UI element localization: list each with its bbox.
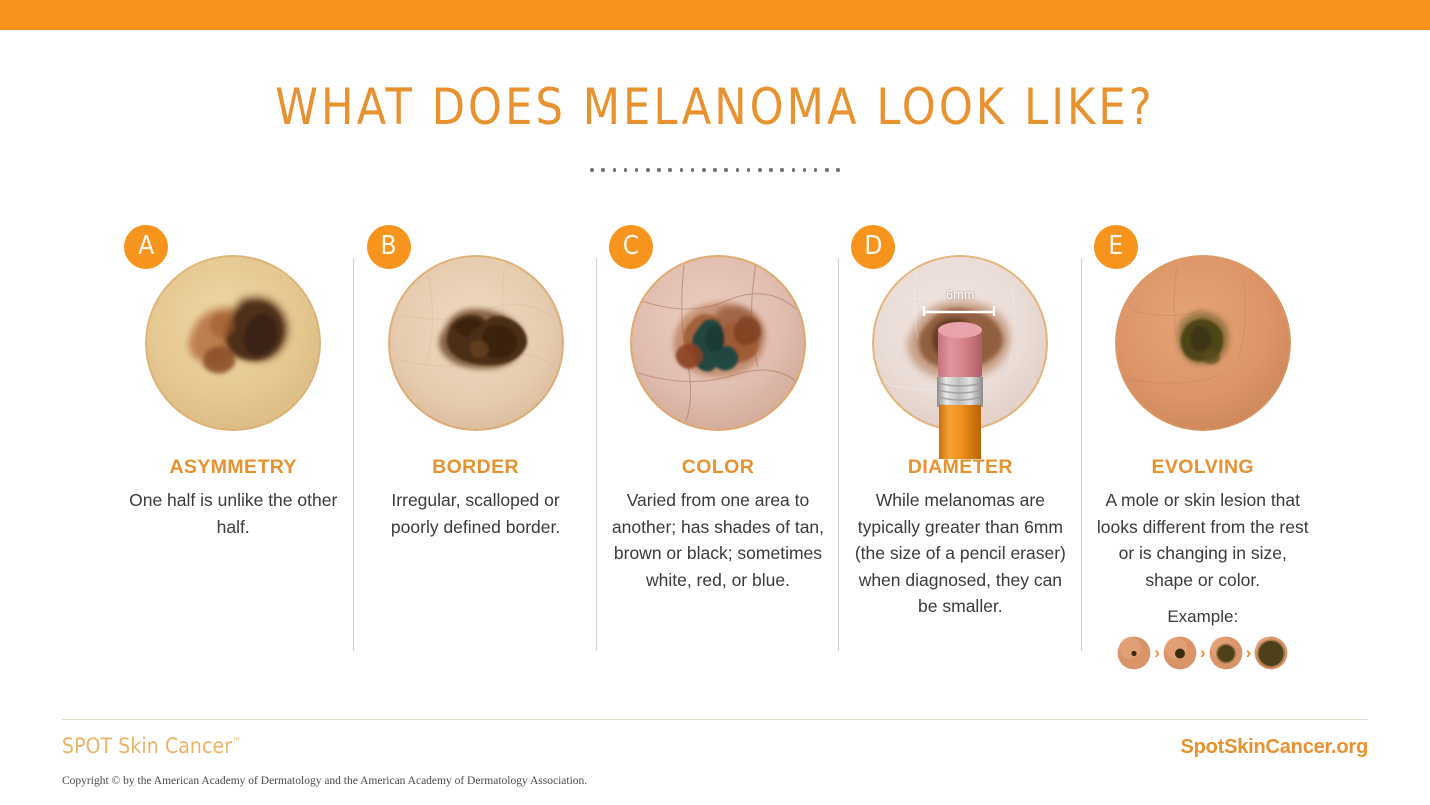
divider-dot (769, 168, 773, 172)
chevron-right-icon: › (1200, 644, 1206, 663)
dotted-divider (0, 168, 1430, 172)
column-evolving: E EVOLVING A mole or skin lesion that lo… (1082, 240, 1324, 670)
body-diameter: While melanomas are typically greater th… (850, 487, 1070, 620)
evolving-step-3 (1209, 636, 1243, 670)
brand-wordmark: SPOT Skin Cancer™ (62, 734, 241, 758)
example-label: Example: (1167, 607, 1238, 627)
top-accent-bar (0, 0, 1430, 30)
divider-dot (702, 168, 706, 172)
badge-b: B (367, 225, 411, 269)
heading-border: BORDER (432, 456, 519, 479)
website-link[interactable]: SpotSkinCancer.org (1180, 736, 1368, 759)
divider-dot (624, 168, 628, 172)
melanoma-asymmetry-photo (145, 255, 321, 431)
body-color: Varied from one area to another; has sha… (608, 487, 828, 593)
photo-wrap-border: B (388, 255, 564, 431)
divider-dot (713, 168, 717, 172)
divider-dot (657, 168, 661, 172)
divider-dot (601, 168, 605, 172)
pencil-eraser-icon (930, 319, 990, 459)
diameter-measurement-label: 6mm (916, 288, 1004, 302)
melanoma-border-photo (388, 255, 564, 431)
chevron-right-icon: › (1154, 644, 1160, 663)
body-border: Irregular, scalloped or poorly defined b… (366, 487, 586, 540)
brand-text: SPOT Skin Cancer (62, 734, 232, 758)
divider-dot (780, 168, 784, 172)
badge-a: A (124, 225, 168, 269)
divider-dot (747, 168, 751, 172)
measurement-bracket-icon (922, 305, 996, 317)
photo-wrap-color: C (630, 255, 806, 431)
page-title: WHAT DOES MELANOMA LOOK LIKE? (29, 78, 1402, 136)
chevron-right-icon: › (1246, 644, 1252, 663)
divider-dot (758, 168, 762, 172)
badge-d: D (851, 225, 895, 269)
divider-dot (803, 168, 807, 172)
trademark-symbol: ™ (232, 737, 241, 748)
divider-dot (635, 168, 639, 172)
divider-dot (814, 168, 818, 172)
heading-color: COLOR (682, 456, 754, 479)
divider-dot (590, 168, 594, 172)
divider-dot (668, 168, 672, 172)
badge-c: C (609, 225, 653, 269)
body-asymmetry: One half is unlike the other half. (123, 487, 343, 540)
divider-dot (736, 168, 740, 172)
body-evolving: A mole or skin lesion that looks differe… (1093, 487, 1313, 593)
divider-dot (613, 168, 617, 172)
evolving-progression: ››› (1117, 636, 1288, 670)
melanoma-color-photo (630, 255, 806, 431)
abcde-columns: A ASYMMETRY One half is unlike the other… (112, 240, 1324, 670)
footer-rule (62, 719, 1368, 720)
column-color: C COLOR Varied from one area to another;… (597, 240, 839, 670)
evolving-step-2 (1163, 636, 1197, 670)
column-border: B BORDER Irregular, scalloped or poorly … (354, 240, 596, 670)
photo-wrap-evolving: E (1115, 255, 1291, 431)
divider-dot (825, 168, 829, 172)
badge-e: E (1094, 225, 1138, 269)
evolving-step-1 (1117, 636, 1151, 670)
divider-dot (646, 168, 650, 172)
divider-dot (836, 168, 840, 172)
heading-diameter: DIAMETER (908, 456, 1013, 479)
photo-wrap-asymmetry: A (145, 255, 321, 431)
photo-wrap-diameter: 6mm (872, 255, 1048, 431)
column-asymmetry: A ASYMMETRY One half is unlike the other… (112, 240, 354, 670)
divider-dot (792, 168, 796, 172)
melanoma-evolving-photo (1115, 255, 1291, 431)
heading-evolving: EVOLVING (1151, 456, 1254, 479)
evolving-step-4 (1254, 636, 1288, 670)
divider-dot (691, 168, 695, 172)
column-diameter: 6mm (839, 240, 1081, 670)
divider-dot (680, 168, 684, 172)
heading-asymmetry: ASYMMETRY (169, 456, 296, 479)
copyright-text: Copyright © by the American Academy of D… (62, 775, 587, 787)
divider-dot (724, 168, 728, 172)
